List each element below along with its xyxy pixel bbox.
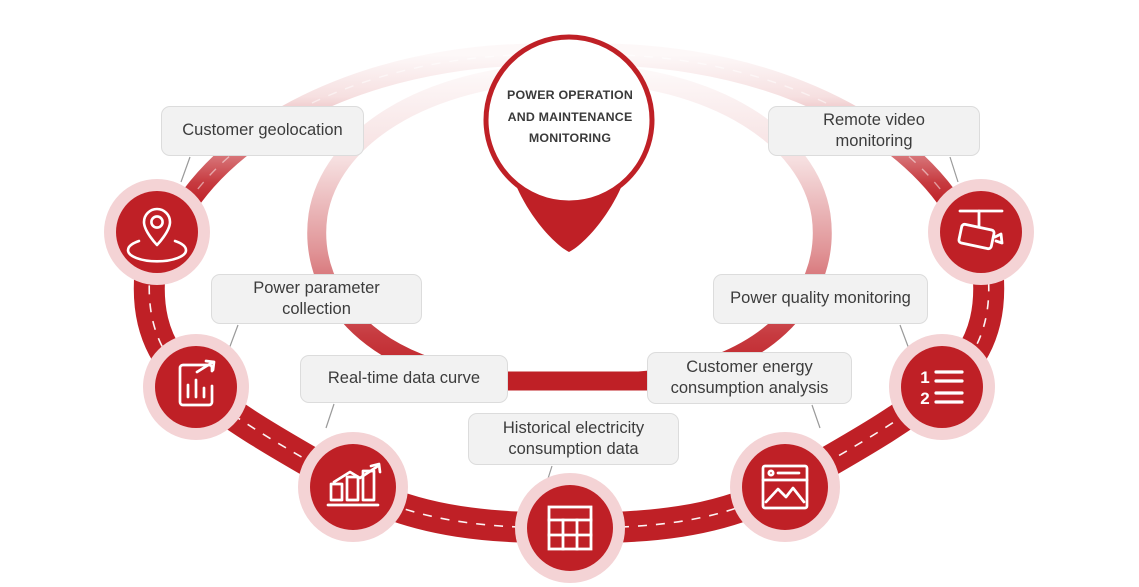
node-remote-video-monitoring[interactable] <box>928 179 1034 285</box>
map-pin-body <box>486 37 652 203</box>
label-power-parameter-collection[interactable]: Power parameter collection <box>211 274 422 324</box>
node-customer-geolocation[interactable] <box>104 179 210 285</box>
center-map-pin[interactable] <box>486 37 652 252</box>
node-power-quality-monitoring[interactable]: 1 2 <box>889 334 995 440</box>
leader-power-parameter-collection <box>229 325 238 349</box>
node-power-parameter-collection[interactable] <box>143 334 249 440</box>
node-historical-electricity-data[interactable] <box>515 473 625 583</box>
label-customer-geolocation[interactable]: Customer geolocation <box>161 106 364 156</box>
label-real-time-data-curve[interactable]: Real-time data curve <box>300 355 508 403</box>
node-customer-energy-consumption[interactable] <box>730 432 840 542</box>
leader-real-time-data-curve <box>326 404 334 428</box>
leader-customer-energy-consumption <box>812 405 820 428</box>
node-disc <box>527 485 613 571</box>
node-disc <box>310 444 396 530</box>
node-disc <box>742 444 828 530</box>
leader-customer-geolocation <box>181 157 190 182</box>
label-historical-electricity-data[interactable]: Historical electricity consumption data <box>468 413 679 465</box>
node-disc <box>901 346 983 428</box>
label-remote-video-monitoring[interactable]: Remote video monitoring <box>768 106 980 156</box>
leader-power-quality-monitoring <box>900 325 909 349</box>
svg-text:2: 2 <box>920 389 929 408</box>
label-power-quality-monitoring[interactable]: Power quality monitoring <box>713 274 928 324</box>
label-customer-energy-consumption[interactable]: Customer energy consumption analysis <box>647 352 852 404</box>
leader-remote-video-monitoring <box>950 157 958 182</box>
node-real-time-data-curve[interactable] <box>298 432 408 542</box>
node-disc <box>940 191 1022 273</box>
svg-text:1: 1 <box>920 368 929 387</box>
diagram-canvas: 1 2 <box>0 0 1139 587</box>
diagram-graphics: 1 2 <box>0 0 1139 587</box>
